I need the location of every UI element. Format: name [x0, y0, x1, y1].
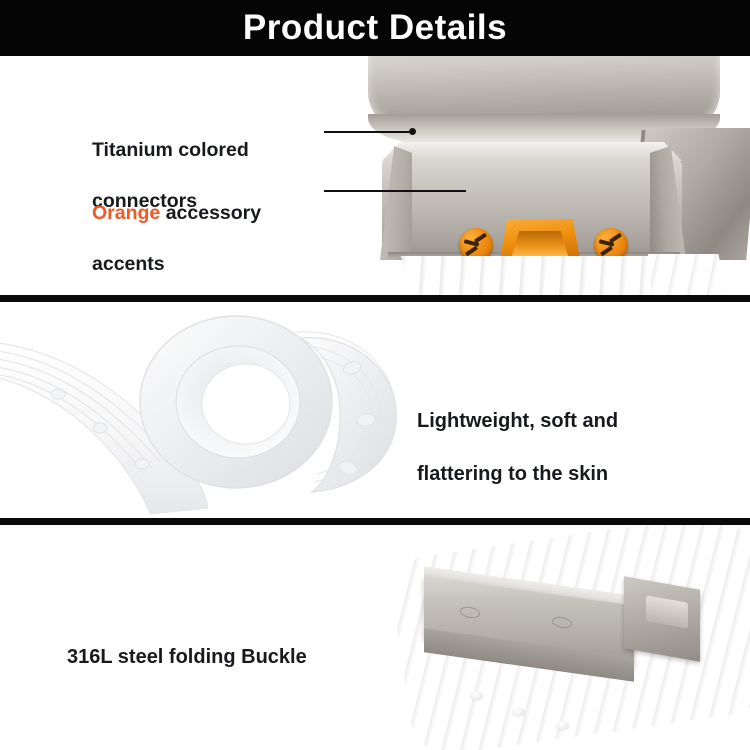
section-divider	[0, 518, 750, 525]
callout-orange-line1-rest: accessory	[160, 202, 261, 224]
callout-buckle-line1: 316L steel folding Buckle	[67, 646, 307, 668]
strap-dimple	[470, 691, 483, 700]
callout-orange-line2: accents	[92, 253, 165, 275]
coiled-strap-image	[0, 302, 420, 518]
callout-lightweight: Lightweight, soft and flattering to the …	[417, 382, 707, 488]
leader-line-titanium	[324, 131, 412, 133]
page-title: Product Details	[243, 8, 507, 48]
strap-dimple	[51, 389, 65, 399]
strap-coil-core	[202, 364, 290, 444]
leader-line-orange	[324, 190, 466, 192]
strap-dimple	[556, 721, 569, 730]
header-banner: Product Details	[0, 0, 750, 56]
orange-button-inset	[512, 231, 568, 256]
strap-dimple	[512, 707, 525, 716]
callout-orange-highlight: Orange	[92, 202, 160, 224]
silicone-strap	[392, 256, 682, 295]
section-divider	[0, 295, 750, 302]
strap-dimple	[135, 459, 149, 469]
callout-steel-buckle: 316L steel folding Buckle	[67, 618, 397, 671]
strap-dimple	[93, 423, 107, 433]
callout-lightweight-line2: flattering to the skin	[417, 463, 608, 485]
silicone-strap-right	[648, 254, 728, 295]
leader-dot-titanium	[409, 128, 416, 135]
callout-titanium-line1: Titanium colored	[92, 139, 249, 161]
callout-orange-accents: Orange accessory accents	[92, 175, 332, 278]
callout-lightweight-line1: Lightweight, soft and	[417, 410, 618, 432]
connector-bracket-bevel	[382, 142, 682, 162]
product-details-infographic: Product Details	[0, 0, 750, 750]
